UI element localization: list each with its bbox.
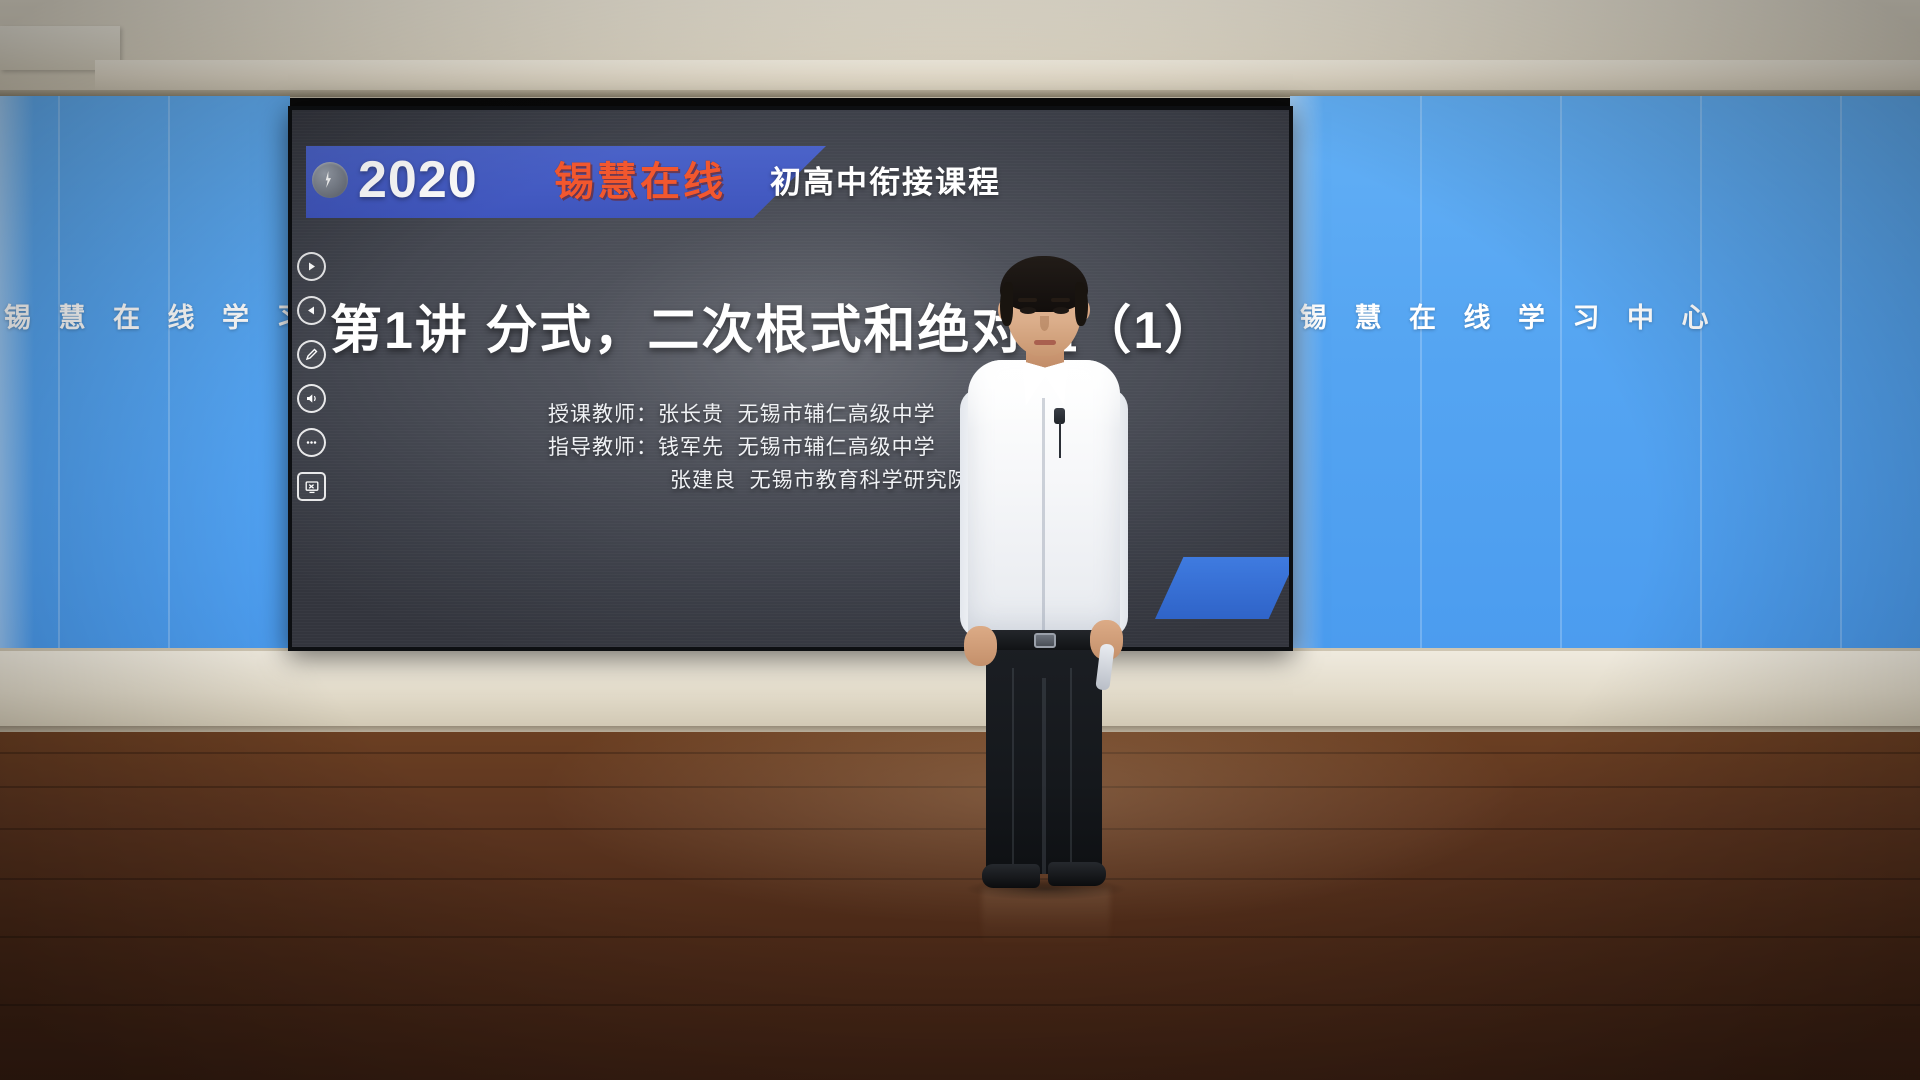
credit-name-2: 钱军先 bbox=[658, 436, 724, 459]
wall-slogan-right: 锡 慧 在 线 学 习 中 心 bbox=[1300, 296, 1719, 335]
shirt-placket bbox=[1042, 398, 1045, 630]
trouser-crease bbox=[1012, 668, 1014, 868]
credit-label-2: 指导教师： bbox=[548, 436, 658, 459]
wall-right bbox=[1290, 96, 1920, 656]
presenter-nose bbox=[1040, 316, 1049, 331]
lecture-room-scene: 锡 慧 在 线 学 习 中 心 锡 慧 在 线 学 习 中 心 2020 锡慧在… bbox=[0, 0, 1920, 1080]
more-options-icon[interactable] bbox=[297, 428, 326, 457]
credit-affiliation-1: 无锡市辅仁高级中学 bbox=[738, 403, 936, 426]
belt-buckle-icon bbox=[1034, 633, 1056, 648]
wall-seam bbox=[1700, 96, 1702, 656]
microphone-cord bbox=[1059, 422, 1061, 458]
wall-seam bbox=[1420, 96, 1422, 656]
pen-icon[interactable] bbox=[297, 340, 326, 369]
wall-left bbox=[0, 96, 290, 656]
credit-affiliation-2: 无锡市辅仁高级中学 bbox=[738, 436, 936, 459]
brand-name: 锡慧在线 bbox=[554, 162, 726, 202]
decorative-parallelogram bbox=[1155, 557, 1289, 619]
brand-subtitle: 初高中衔接课程 bbox=[770, 167, 1001, 198]
presenter-left-eye bbox=[1020, 307, 1036, 314]
play-next-icon[interactable] bbox=[297, 252, 326, 281]
presenter-right-shoe bbox=[1048, 862, 1106, 886]
wall-seam bbox=[168, 96, 170, 656]
banner-year: 2020 bbox=[358, 154, 478, 206]
presenter bbox=[930, 248, 1150, 848]
presentation-toolbar[interactable] bbox=[297, 252, 326, 501]
credit-name-3: 张建良 bbox=[670, 469, 736, 492]
presenter-left-eyebrow bbox=[1018, 298, 1037, 302]
presenter-mouth bbox=[1034, 340, 1056, 345]
presenter-left-hand bbox=[964, 626, 997, 666]
trouser-crease bbox=[1070, 668, 1072, 868]
presenter-leg-split bbox=[1042, 678, 1046, 874]
credit-label-1: 授课教师： bbox=[548, 403, 658, 426]
speaker-icon[interactable] bbox=[297, 384, 326, 413]
lightning-circle-icon bbox=[312, 162, 348, 198]
presenter-floor-reflection bbox=[982, 888, 1110, 946]
credit-name-1: 张长贵 bbox=[658, 403, 724, 426]
presenter-right-eye bbox=[1053, 307, 1069, 314]
play-previous-icon[interactable] bbox=[297, 296, 326, 325]
wall-seam bbox=[1840, 96, 1842, 656]
presenter-right-eyebrow bbox=[1051, 298, 1070, 302]
presenter-hair-side-left bbox=[1000, 282, 1013, 326]
wall-seam bbox=[1560, 96, 1562, 656]
presenter-hair-side-right bbox=[1075, 282, 1088, 326]
presenter-left-shoe bbox=[982, 864, 1040, 888]
wall-seam bbox=[58, 96, 60, 656]
exit-presentation-icon[interactable] bbox=[297, 472, 326, 501]
